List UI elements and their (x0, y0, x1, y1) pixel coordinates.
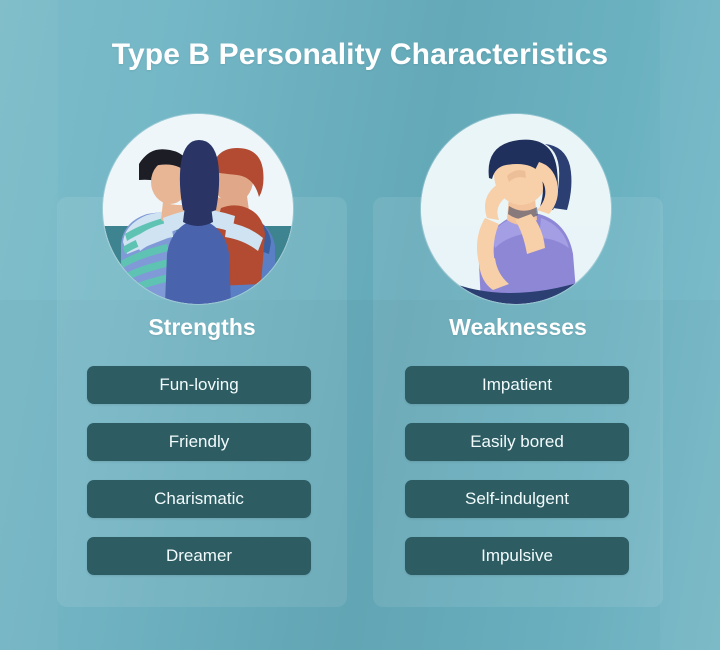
background-band-left (0, 0, 58, 650)
list-item: Impatient (405, 366, 629, 404)
three-friends-embracing-icon (103, 114, 293, 304)
list-item: Friendly (87, 423, 311, 461)
infographic-canvas: Type B Personality Characteristics (0, 0, 720, 650)
weaknesses-heading: Weaknesses (373, 314, 663, 341)
page-title: Type B Personality Characteristics (0, 38, 720, 72)
strengths-heading: Strengths (57, 314, 347, 341)
list-item: Easily bored (405, 423, 629, 461)
stressed-woman-hands-on-head-icon (421, 114, 611, 304)
list-item: Impulsive (405, 537, 629, 575)
list-item: Charismatic (87, 480, 311, 518)
list-item: Dreamer (87, 537, 311, 575)
background-band-right (660, 0, 720, 650)
list-item: Fun-loving (87, 366, 311, 404)
weaknesses-list: Impatient Easily bored Self-indulgent Im… (405, 366, 629, 575)
list-item: Self-indulgent (405, 480, 629, 518)
strengths-list: Fun-loving Friendly Charismatic Dreamer (87, 366, 311, 575)
